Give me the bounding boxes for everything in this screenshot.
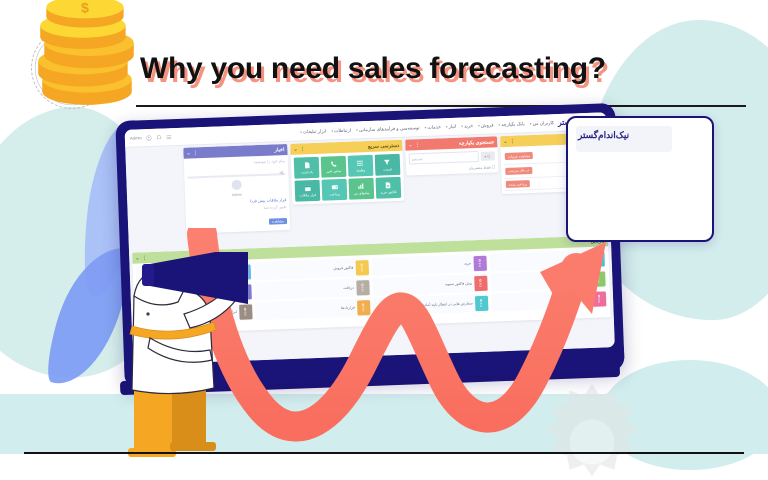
search-option-customers-only[interactable]: ☐ فقط مشتریان [409, 164, 495, 172]
document-icon [303, 161, 311, 169]
panel-content: پیام خود را بنویسید Admin قرار ملاقات پی… [184, 155, 291, 233]
chevron-down-icon: ▾ [300, 130, 302, 134]
card-brand: نیک‌اندام‌گستر [578, 130, 629, 141]
nav-item-processes[interactable]: توسعه‌سی و فرآیندهای سازمانی▾ [356, 125, 420, 133]
nav-item-label: خرید [464, 123, 473, 128]
quick-access-grid: فرمت وظیفه تماس اخیر [294, 154, 402, 201]
quick-tile-appointment[interactable]: قرار ملاقات [295, 179, 321, 201]
phone-icon [329, 160, 337, 168]
nav-item-ertebatat[interactable]: ارتباطات▾ [331, 127, 351, 134]
quick-tile-invoice[interactable]: فاکتور خرید [375, 176, 401, 198]
nav-item-anbar[interactable]: انبار▾ [446, 123, 457, 129]
search-placeholder: جستجو [412, 156, 423, 161]
search-button[interactable]: ▾ [481, 151, 495, 161]
panel-title: دسترسی سریع [368, 142, 400, 149]
nav-item-label: ارتباطات [334, 127, 351, 133]
nav-item-forush[interactable]: فروش▾ [478, 122, 494, 129]
chevron-down-icon: ▾ [484, 154, 486, 158]
quick-tile-recent-call[interactable]: تماس اخیر [321, 156, 347, 178]
panel-menu-icon[interactable]: ⋮ ⌄ [186, 150, 198, 156]
chevron-down-icon: ▾ [498, 123, 500, 127]
svg-text:$: $ [81, 0, 89, 16]
quick-tile-label: وظیفه [356, 168, 365, 172]
list-icon [356, 159, 364, 167]
quick-tile-task[interactable]: وظیفه [347, 155, 373, 177]
panel-menu-icon[interactable]: ⋮ ⌄ [408, 142, 420, 148]
panel-content: فرمت وظیفه تماس اخیر [291, 151, 405, 205]
quick-tile-label: پیام‌های من [353, 190, 369, 195]
calendar-icon [303, 184, 311, 192]
panel-news-chat: اخبار ⋮ ⌄ پیام خود را بنویسید Admin [183, 144, 290, 233]
nav-item-bank[interactable]: بانک یکپارچه▾ [498, 121, 524, 128]
panel-title: اخبار [274, 147, 284, 153]
title-underline [136, 105, 746, 107]
chevron-down-icon: ▾ [356, 128, 358, 132]
view-button[interactable]: مشاهده [269, 218, 287, 225]
chevron-down-icon: ▾ [530, 121, 532, 125]
user-icon[interactable] [146, 134, 152, 140]
funnel-icon [383, 158, 391, 166]
file-icon [384, 181, 392, 189]
quick-tile-payment[interactable]: پرداخت [321, 178, 347, 200]
checkbox-icon[interactable]: ☐ [492, 165, 496, 169]
message-note: تغییر کرده شد [188, 204, 286, 213]
panel-content: ▾ جستجو ☐ فقط مشتریان [406, 147, 499, 175]
nav-item-ads-tools[interactable]: ابزار تبلیغات▾ [300, 128, 326, 135]
search-icon [487, 154, 491, 158]
mobile-card: نیک‌اندام‌گستر [566, 116, 714, 242]
megaphone-icon [278, 163, 285, 170]
bottom-rule [24, 452, 744, 454]
panel-menu-icon[interactable]: ⋮ ⌄ [503, 138, 515, 144]
dashboard-top-row: آخرین فعالیت ⋮ ⌄ علی احمدی موجود مشاهده … [128, 132, 607, 235]
divider [187, 173, 285, 178]
bell-icon[interactable] [156, 134, 162, 140]
search-option-label: فقط مشتریان [469, 166, 491, 171]
quick-tile-format[interactable]: فرمت [374, 154, 400, 176]
status-badge[interactable]: مشاهده جزئیات [505, 152, 534, 160]
poster-canvas: Why you need sales forecasting? نیک‌اندا… [0, 0, 768, 480]
quick-tile-note[interactable]: یادداشت [294, 157, 320, 179]
nav-item-label: ابزار تبلیغات [303, 128, 327, 134]
navbar-right-cluster: Admin [125, 134, 172, 142]
wallet-icon [330, 183, 338, 191]
nav-username: Admin [130, 135, 142, 140]
panel-menu-icon[interactable]: ⋮ ⌄ [293, 146, 305, 152]
panel-unified-search: جستجوی یکپارچه ⋮ ⌄ ▾ [405, 136, 498, 175]
search-row: ▾ جستجو [409, 150, 495, 164]
quick-tile-label: فرمت [383, 167, 392, 171]
nav-item-label: انبار [449, 123, 457, 128]
page-title: Why you need sales forecasting? [140, 46, 760, 94]
message-input-placeholder[interactable]: پیام خود را بنویسید [187, 158, 285, 167]
avatar [231, 179, 241, 189]
coin-stack-icon: $ [26, 0, 148, 116]
search-input[interactable]: جستجو [409, 151, 479, 165]
quick-tile-label: تماس اخیر [326, 169, 341, 174]
quick-tile-messages[interactable]: پیام‌های من [348, 177, 374, 199]
quick-tile-label: یادداشت [301, 170, 313, 174]
quick-tile-label: پرداخت [329, 192, 340, 196]
nav-item-label: فروش [481, 122, 494, 127]
status-badge[interactable]: پرداخت شده [506, 180, 530, 188]
panel-quick-access: دسترسی سریع ⋮ ⌄ فرمت [290, 140, 404, 205]
nav-item-label: توسعه‌سی و فرآیندهای سازمانی [359, 125, 420, 132]
nav-item-kharid[interactable]: خرید▾ [461, 123, 473, 129]
quick-tile-label: قرار ملاقات [299, 192, 316, 197]
chevron-down-icon: ▾ [446, 125, 448, 129]
person-with-megaphone [98, 252, 266, 458]
chevron-down-icon: ▾ [425, 125, 427, 129]
panel-title: جستجوی یکپارچه [459, 139, 495, 146]
status-badge[interactable]: در حال بررسی [505, 167, 532, 175]
nav-item-karbaran[interactable]: کاربران من▾ [530, 120, 555, 127]
nav-item-label: خدمات [427, 124, 441, 129]
nav-item-label: کاربران من [532, 120, 554, 126]
hamburger-icon[interactable] [166, 134, 172, 140]
nav-item-khadamat[interactable]: خدمات▾ [425, 124, 441, 131]
quick-tile-label: فاکتور خرید [380, 189, 396, 194]
nav-item-label: بانک یکپارچه [501, 121, 525, 127]
chart-icon [357, 182, 365, 190]
